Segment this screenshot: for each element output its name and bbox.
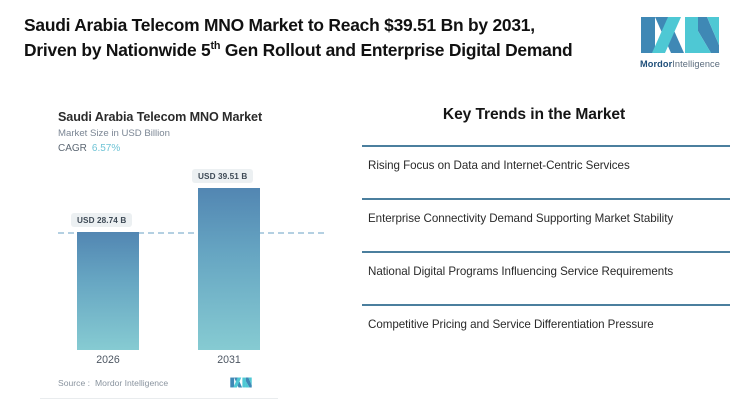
page-header: Saudi Arabia Telecom MNO Market to Reach…: [0, 0, 750, 88]
source-mordor-m-logo-icon: [230, 377, 252, 388]
logo-wordmark: MordorIntelligence: [640, 59, 720, 69]
mordor-intelligence-logo[interactable]: MordorIntelligence: [628, 15, 732, 69]
trend-text-4: Competitive Pricing and Service Differen…: [368, 317, 718, 333]
chart-title: Saudi Arabia Telecom MNO Market: [58, 110, 262, 124]
mordor-m-logo-icon: [641, 15, 719, 55]
trend-text-1: Rising Focus on Data and Internet-Centri…: [368, 158, 718, 174]
chart-x-axis-labels: 2026 2031: [58, 354, 318, 370]
list-item[interactable]: Enterprise Connectivity Demand Supportin…: [362, 198, 730, 251]
chart-plot-area: USD 28.74 B USD 39.51 B: [58, 168, 318, 350]
chart-subtitle: Market Size in USD Billion: [58, 128, 170, 139]
x-tick-2026: 2026: [77, 354, 139, 366]
bar-2026[interactable]: [77, 232, 139, 350]
key-trends-title: Key Trends in the Market: [362, 106, 730, 124]
headline-line-1: Saudi Arabia Telecom MNO Market to Reach…: [24, 15, 535, 35]
market-size-chart-panel: Saudi Arabia Telecom MNO Market Market S…: [0, 96, 345, 396]
cagr-label: CAGR: [58, 143, 87, 154]
chart-source-row: Source : Mordor Intelligence: [58, 377, 318, 388]
trend-text-2: Enterprise Connectivity Demand Supportin…: [368, 211, 718, 227]
list-item[interactable]: Competitive Pricing and Service Differen…: [362, 304, 730, 357]
bar-2031[interactable]: [198, 188, 260, 350]
logo-word-intelligence: Intelligence: [672, 59, 720, 69]
source-name: Mordor Intelligence: [95, 378, 168, 388]
source-label: Source :: [58, 378, 90, 388]
headline-line-2-pre: Driven by Nationwide 5: [24, 40, 211, 60]
x-tick-2031: 2031: [198, 354, 260, 366]
bar-value-label-2031: USD 39.51 B: [192, 169, 253, 183]
list-item[interactable]: Rising Focus on Data and Internet-Centri…: [362, 145, 730, 198]
key-trends-panel: Key Trends in the Market Rising Focus on…: [362, 96, 730, 357]
list-item[interactable]: National Digital Programs Influencing Se…: [362, 251, 730, 304]
chart-cagr: CAGR6.57%: [58, 143, 120, 154]
headline-superscript: th: [211, 40, 221, 52]
chart-bottom-divider: [40, 398, 278, 399]
headline-line-2-post: Gen Rollout and Enterprise Digital Deman…: [220, 40, 572, 60]
trend-text-3: National Digital Programs Influencing Se…: [368, 264, 718, 280]
key-trends-list: Rising Focus on Data and Internet-Centri…: [362, 145, 730, 357]
cagr-value: 6.57%: [92, 143, 120, 154]
logo-word-mordor: Mordor: [640, 59, 672, 69]
bar-value-label-2026: USD 28.74 B: [71, 213, 132, 227]
page-title: Saudi Arabia Telecom MNO Market to Reach…: [24, 13, 628, 62]
